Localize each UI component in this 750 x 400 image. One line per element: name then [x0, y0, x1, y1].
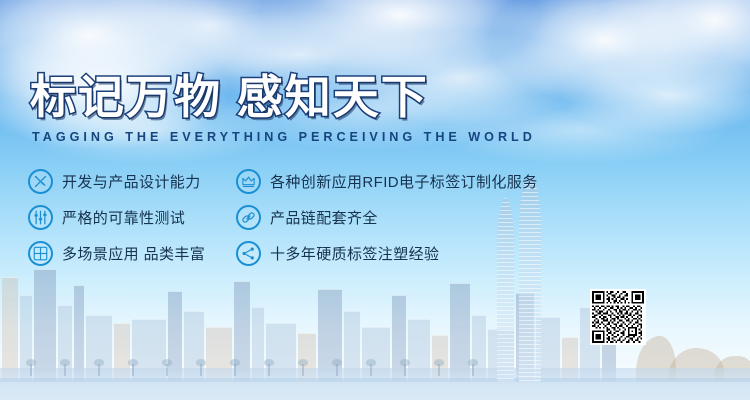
tools-icon	[28, 169, 53, 194]
feature-label: 开发与产品设计能力	[62, 171, 201, 192]
feature-label: 十多年硬质标签注塑经验	[270, 243, 439, 264]
feature-label: 严格的可靠性测试	[62, 207, 185, 228]
feature-label: 多场景应用 品类丰富	[62, 243, 205, 264]
feature-column-left: 开发与产品设计能力 严格的可靠性测试	[28, 168, 205, 276]
qr-code-image	[592, 291, 644, 343]
sliders-icon	[28, 205, 53, 230]
page-subtitle: TAGGING THE EVERYTHING PERCEIVING THE WO…	[32, 130, 536, 143]
page-title: 标记万物 感知天下	[30, 74, 429, 120]
feature-item-reliability: 严格的可靠性测试	[28, 204, 205, 231]
feature-item-development: 开发与产品设计能力	[28, 168, 205, 195]
feature-list: 开发与产品设计能力 严格的可靠性测试	[0, 168, 750, 278]
link-icon	[236, 205, 261, 230]
share-icon	[236, 241, 261, 266]
feature-label: 各种创新应用RFID电子标签订制化服务	[270, 171, 538, 192]
waterfront	[0, 378, 750, 400]
feature-item-rfid-custom: 各种创新应用RFID电子标签订制化服务	[236, 168, 538, 195]
grid-icon	[28, 241, 53, 266]
qr-code[interactable]	[590, 289, 646, 345]
feature-label: 产品链配套齐全	[270, 207, 378, 228]
feature-item-supply-chain: 产品链配套齐全	[236, 204, 538, 231]
feature-column-right: 各种创新应用RFID电子标签订制化服务 产品链配套齐全	[236, 168, 538, 276]
promo-banner: 标记万物 感知天下 TAGGING THE EVERYTHING PERCEIV…	[0, 0, 750, 400]
feature-item-experience: 十多年硬质标签注塑经验	[236, 240, 538, 267]
crown-icon	[236, 169, 261, 194]
feature-item-applications: 多场景应用 品类丰富	[28, 240, 205, 267]
